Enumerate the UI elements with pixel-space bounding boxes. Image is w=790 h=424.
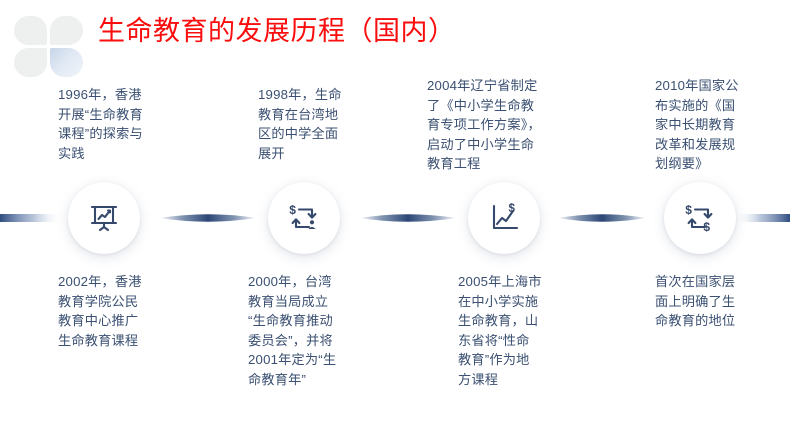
timeline-node-4[interactable]: $ $ xyxy=(664,182,736,254)
timeline-node-2-top-text: 1998年，生命 教育在台湾地 区的中学全面 展开 xyxy=(258,85,388,163)
timeline-node-4-top-text: 2010年国家公 布实施的《国 家中长期教育 改革和发展规 划纲要》 xyxy=(655,76,785,174)
timeline-node-2-bottom-text: 2000年，台湾 教育当局成立 “生命教育推动 委员会”，并将 2001年定为“… xyxy=(248,272,388,389)
svg-text:$: $ xyxy=(289,203,296,217)
clover-petal-bottom-right xyxy=(50,48,83,77)
growth-chart-dollar-icon: $ xyxy=(486,200,522,236)
timeline-node-3-bottom-text: 2005年上海市 在中小学实施 生命教育，山 东省将“性命 教育”作为地 方课程 xyxy=(458,272,593,389)
money-exchange-cycle-icon: $ $ xyxy=(682,200,718,236)
page-title: 生命教育的发展历程（国内） xyxy=(98,14,456,48)
timeline-node-3-top-text: 2004年辽宁省制定 了《中小学生命教 育专项工作方案》， 启动了中小学生命 教… xyxy=(427,76,602,174)
money-person-exchange-icon: $ xyxy=(286,200,322,236)
rail-segment-3-4 xyxy=(558,214,646,222)
clover-petal-top-left xyxy=(14,16,47,45)
timeline-node-1-bottom-text: 2002年，香港 教育学院公民 教育中心推广 生命教育课程 xyxy=(58,272,188,350)
rail-segment-1-2 xyxy=(160,214,256,222)
rail-segment-right-edge xyxy=(736,214,790,222)
svg-text:$: $ xyxy=(703,220,710,234)
rail-segment-2-3 xyxy=(360,214,456,222)
timeline-node-3[interactable]: $ xyxy=(468,182,540,254)
timeline-node-4-bottom-text: 首次在国家层 面上明确了生 命教育的地位 xyxy=(655,272,785,331)
timeline-node-1-top-text: 1996年，香港 开展“生命教育 课程”的探索与 实践 xyxy=(58,85,188,163)
svg-text:$: $ xyxy=(685,203,692,217)
svg-text:$: $ xyxy=(509,203,516,215)
clover-petal-top-right xyxy=(50,16,83,45)
rail-segment-left-edge xyxy=(0,214,62,222)
clover-petal-bottom-left xyxy=(14,48,47,77)
presentation-chart-icon xyxy=(86,200,122,236)
clover-logo xyxy=(14,16,86,78)
timeline-node-2[interactable]: $ xyxy=(268,182,340,254)
timeline-node-1[interactable] xyxy=(68,182,140,254)
